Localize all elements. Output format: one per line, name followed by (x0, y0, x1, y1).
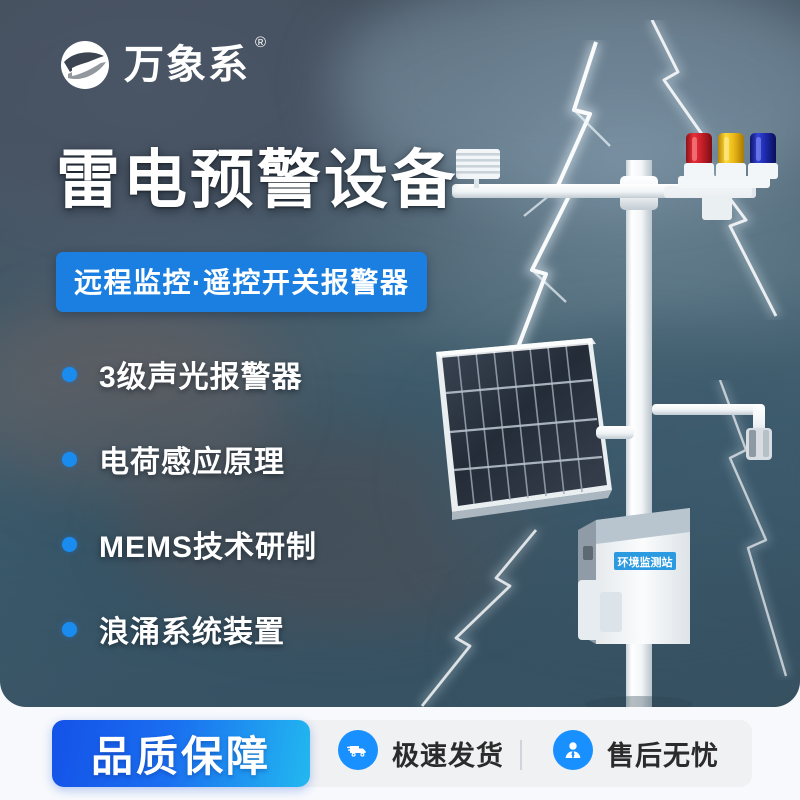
footer-item-shipping[interactable]: 极速发货 (338, 734, 504, 773)
camera-sensor-arm (652, 404, 772, 460)
cabinet-label-text: 环境监测站 (618, 555, 673, 569)
lightning-bolt-icon (560, 20, 800, 320)
footer-item-service[interactable]: 售后无忧 (553, 734, 719, 773)
page-title: 雷电预警设备 (56, 145, 458, 217)
hero-image: 环境监测站 万象系 ® 雷电预警设备 远程监控·遥控开关报警器 (0, 0, 800, 707)
bullet-dot-icon (62, 622, 77, 637)
feature-item: MEMS技术研制 (62, 515, 317, 573)
registered-trademark-mark: ® (255, 35, 268, 50)
subtitle-badge: 远程监控·遥控开关报警器 (56, 252, 427, 312)
beacon-shelf (678, 176, 770, 188)
customer-service-icon (553, 730, 593, 770)
product-banner: 环境监测站 万象系 ® 雷电预警设备 远程监控·遥控开关报警器 (0, 0, 800, 800)
feature-list: 3级声光报警器 电荷感应原理 MEMS技术研制 浪涌系统装置 (62, 345, 317, 685)
delivery-truck-icon (338, 730, 378, 770)
cross-arm (452, 184, 752, 198)
quality-guarantee-badge[interactable]: 品质保障 (52, 720, 310, 787)
bullet-dot-icon (62, 452, 77, 467)
brand-name: 万象系 ® (124, 45, 250, 85)
feature-label: 3级声光报警器 (99, 352, 303, 396)
bullet-dot-icon (62, 537, 77, 552)
red-alarm-beacon (684, 133, 714, 179)
trust-footer-bar: 品质保障 极速发货 (0, 707, 800, 800)
feature-item: 浪涌系统装置 (62, 600, 317, 658)
brand-name-text: 万象系 (124, 43, 250, 87)
cloud-blob (430, 330, 800, 630)
yellow-alarm-beacon (716, 133, 746, 179)
cabinet-label-plate (614, 552, 676, 570)
feature-label: MEMS技术研制 (99, 522, 317, 566)
beacon-base-mount (702, 196, 732, 220)
lightning-bolt-icon (470, 40, 650, 370)
feature-item: 3级声光报警器 (62, 345, 317, 403)
blue-alarm-beacon (748, 133, 778, 179)
lightning-bolt-icon (330, 520, 550, 707)
swoosh-sphere-logo-icon (58, 38, 112, 92)
lightning-bolt-icon (690, 380, 800, 680)
bullet-dot-icon (62, 367, 77, 382)
feature-item: 电荷感应原理 (62, 430, 317, 488)
cloud-blob (480, 560, 800, 707)
feature-label: 浪涌系统装置 (99, 607, 285, 651)
radiation-shield-sensor (456, 149, 500, 188)
control-cabinet: 环境监测站 (578, 508, 690, 644)
brand-logo: 万象系 ® (58, 38, 250, 92)
footer-item-label: 售后无忧 (607, 734, 719, 773)
quality-guarantee-label: 品质保障 (91, 723, 271, 784)
pole-collar (620, 176, 658, 210)
panel-mount-arm (596, 426, 634, 439)
mast-pole (626, 160, 652, 707)
solar-panel (436, 338, 634, 520)
footer-divider (520, 740, 522, 770)
footer-item-label: 极速发货 (392, 734, 504, 773)
feature-label: 电荷感应原理 (99, 437, 285, 481)
